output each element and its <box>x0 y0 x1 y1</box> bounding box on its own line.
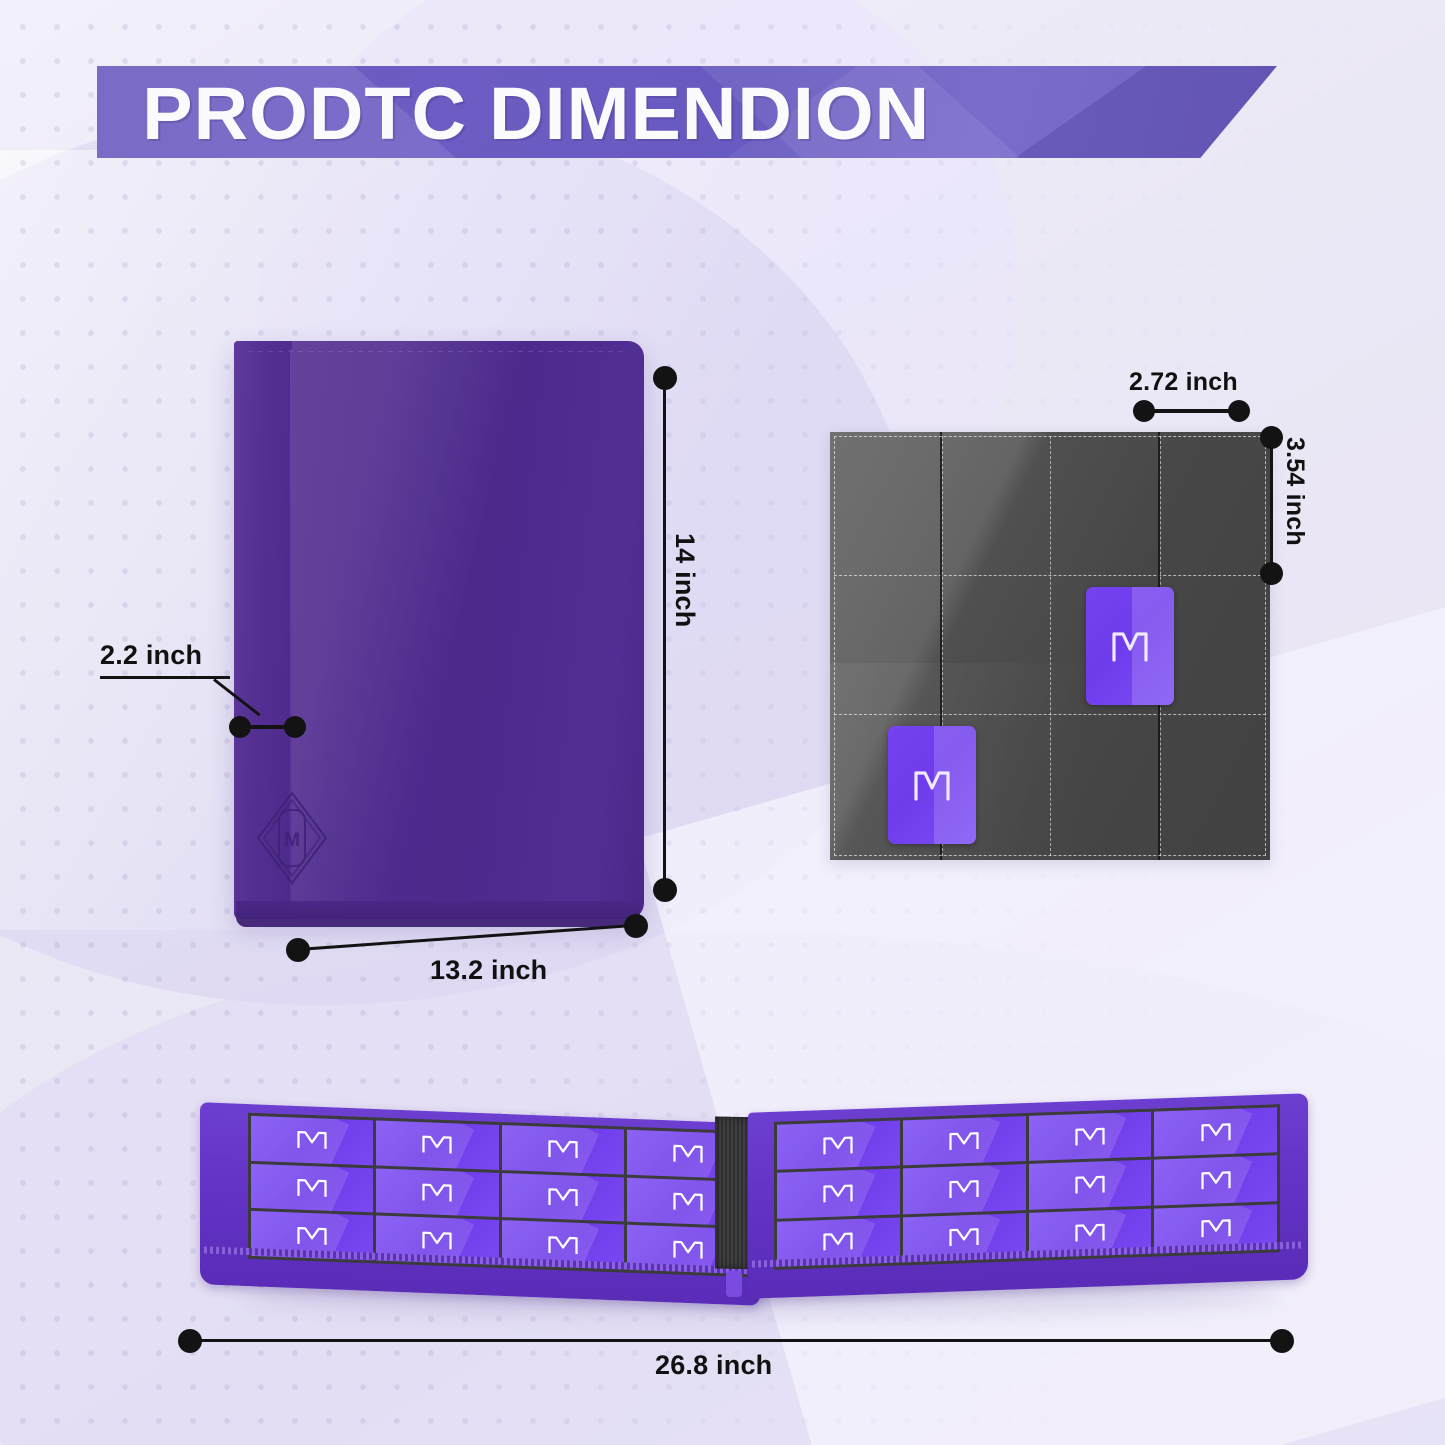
dimension-line-pocket-width <box>1143 409 1239 413</box>
card-cell <box>903 1164 1026 1214</box>
dimension-endpoint <box>653 366 677 390</box>
inserted-card <box>1086 587 1174 705</box>
page-title: PRODTC DIMENDION <box>142 74 930 154</box>
dimension-label-height: 14 inch <box>669 533 700 627</box>
card-cell <box>1029 1160 1152 1210</box>
card-cell <box>376 1168 498 1217</box>
infographic-canvas: PRODTC DIMENDION M 2.2 inch 14 inch 1 <box>0 0 1445 1445</box>
dimension-endpoint <box>1260 562 1283 585</box>
card-cell <box>777 1169 900 1219</box>
leader-underline-thickness <box>100 676 230 679</box>
dimension-endpoint <box>284 716 306 738</box>
dimension-label-pocket-height: 3.54 inch <box>1280 437 1309 546</box>
dimension-label-pocket-width: 2.72 inch <box>1129 368 1238 397</box>
dimension-endpoint <box>178 1329 202 1353</box>
card-cell <box>1154 1156 1277 1206</box>
dimension-label-width: 13.2 inch <box>430 955 547 986</box>
card-cell <box>251 1116 373 1165</box>
binder-bottom-edge <box>236 901 640 927</box>
dimension-endpoint <box>1133 400 1155 422</box>
dimension-label-open-width: 26.8 inch <box>655 1350 772 1381</box>
card-cell <box>502 1173 624 1222</box>
dimension-endpoint <box>624 914 648 938</box>
dimension-endpoint <box>653 878 677 902</box>
card-cell <box>1029 1112 1152 1162</box>
dimension-label-thickness: 2.2 inch <box>100 640 202 671</box>
dimension-line-height <box>663 380 666 888</box>
card-m-logo-icon <box>888 726 976 844</box>
open-binder <box>170 1095 1310 1315</box>
binder-cover-sheen <box>292 341 644 919</box>
card-cell <box>502 1125 624 1174</box>
card-cell <box>376 1120 498 1169</box>
card-m-logo-icon <box>1086 587 1174 705</box>
pocket-page <box>830 432 1270 860</box>
dimension-endpoint <box>229 716 251 738</box>
svg-text:M: M <box>284 830 300 851</box>
embossed-diamond-m-logo-icon: M <box>255 790 329 886</box>
card-cell <box>1154 1107 1277 1157</box>
dimension-line-pocket-height <box>1270 436 1273 574</box>
card-cell <box>777 1120 900 1170</box>
card-cell <box>251 1164 373 1213</box>
inserted-card <box>888 726 976 844</box>
dimension-endpoint <box>286 938 310 962</box>
card-cell <box>903 1116 1026 1166</box>
dimension-endpoint <box>1270 1329 1294 1353</box>
zipper-pull-icon[interactable] <box>726 1271 742 1297</box>
dimension-line-open-width <box>192 1339 1282 1342</box>
dimension-endpoint <box>1228 400 1250 422</box>
